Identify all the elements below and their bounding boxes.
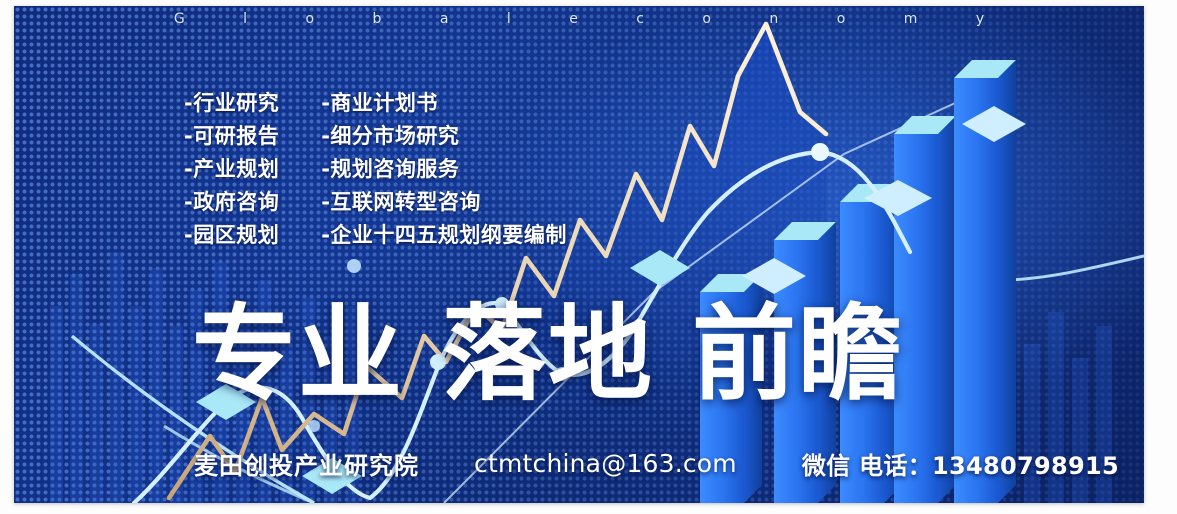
point-marker [308,420,320,432]
organization-name: 麦田创投产业研究院 [194,446,419,481]
service-item: -企业十四五规划纲要编制 [321,222,567,250]
main-slogan: 专业 落地 前瞻 [192,302,904,406]
services-lists: -行业研究 -可研报告 -产业规划 -政府咨询 -园区规划 -商业计划书 -细分… [184,90,567,250]
services-column-right: -商业计划书 -细分市场研究 -规划咨询服务 -互联网转型咨询 -企业十四五规划… [321,90,567,250]
service-item: -可研报告 [184,123,279,151]
point-marker [347,259,361,273]
service-item: -政府咨询 [184,189,279,217]
slogan-word-2: 落地 [442,302,654,406]
service-item: -园区规划 [184,222,279,250]
phone-number: 微信 电话：13480798915 [802,446,1119,481]
contact-footer: 麦田创投产业研究院 ctmtchina@163.com 微信 电话：134807… [194,446,1119,481]
promotional-banner: G l o b a l e c o n o m y -行业研究 -可研报告 -产… [14,6,1144,503]
service-item: -细分市场研究 [321,123,567,151]
service-item: -行业研究 [184,90,279,118]
email-address[interactable]: ctmtchina@163.com [474,449,737,478]
slogan-word-1: 专业 [192,302,404,406]
service-item: -产业规划 [184,156,279,184]
screenshot-stage: G l o b a l e c o n o m y -行业研究 -可研报告 -产… [0,0,1177,514]
slogan-word-3: 前瞻 [692,302,904,406]
service-item: -商业计划书 [321,90,567,118]
service-item: -规划咨询服务 [321,156,567,184]
page-title: G l o b a l e c o n o m y [14,11,1144,27]
growth-chart-graphic [14,6,1144,503]
point-marker [811,143,829,161]
services-column-left: -行业研究 -可研报告 -产业规划 -政府咨询 -园区规划 [184,90,279,250]
service-item: -互联网转型咨询 [321,189,567,217]
